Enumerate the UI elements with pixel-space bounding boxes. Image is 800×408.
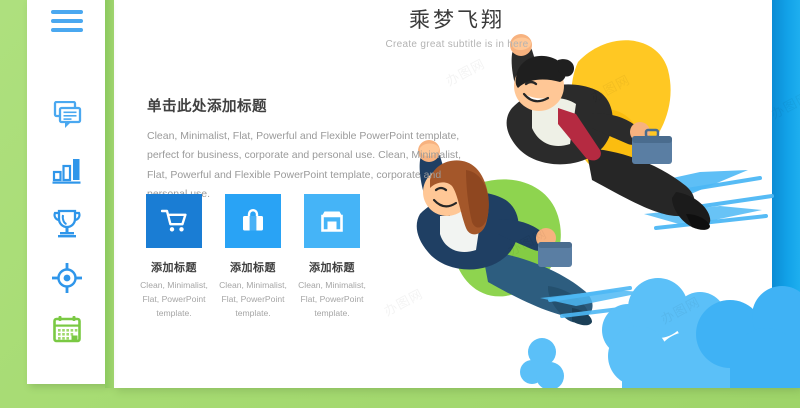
feature-card-title: 添加标题	[225, 259, 281, 275]
green-divider-strip	[105, 0, 114, 388]
watermark: 办图网	[504, 223, 550, 260]
target-icon	[49, 260, 85, 296]
sidebar-item-awards[interactable]	[49, 206, 85, 242]
sidebar-item-messages[interactable]	[49, 98, 85, 134]
watermark: 办图网	[587, 69, 633, 106]
feature-card-list: 添加标题 Clean, Minimalist, Flat, PowerPoint…	[146, 194, 486, 321]
feature-card-title: 添加标题	[146, 259, 202, 275]
feature-card[interactable]: 添加标题 Clean, Minimalist, Flat, PowerPoint…	[304, 194, 360, 321]
slide-canvas: 乘梦飞翔 Create great subtitle is in here 单击…	[0, 0, 800, 408]
feature-card[interactable]: 添加标题 Clean, Minimalist, Flat, PowerPoint…	[225, 194, 281, 321]
content-block: 单击此处添加标题 Clean, Minimalist, Flat, Powerf…	[147, 95, 477, 205]
watermark: 办图网	[657, 291, 703, 328]
storefront-icon	[319, 209, 345, 233]
page-title: 乘梦飞翔	[114, 4, 800, 34]
sidebar-item-calendar[interactable]	[49, 311, 85, 347]
page-subtitle: Create great subtitle is in here	[114, 39, 800, 50]
sidebar-icon-list	[27, 0, 107, 384]
feature-card-desc: Clean, Minimalist, Flat, PowerPoint temp…	[289, 279, 375, 321]
sidebar-panel	[27, 0, 107, 384]
slide-header: 乘梦飞翔 Create great subtitle is in here	[114, 4, 800, 50]
hamburger-menu-icon[interactable]	[51, 8, 83, 34]
chat-bubbles-icon	[49, 98, 85, 134]
calendar-icon	[49, 311, 85, 347]
feature-card-title: 添加标题	[304, 259, 360, 275]
briefcase-icon	[240, 209, 266, 233]
main-content-panel: 乘梦飞翔 Create great subtitle is in here 单击…	[114, 0, 800, 388]
content-heading: 单击此处添加标题	[147, 95, 477, 116]
sidebar-item-goals[interactable]	[49, 260, 85, 296]
feature-card-tile[interactable]	[304, 194, 360, 248]
feature-card-tile[interactable]	[225, 194, 281, 248]
right-blue-accent-bar	[772, 0, 800, 388]
feature-card[interactable]: 添加标题 Clean, Minimalist, Flat, PowerPoint…	[146, 194, 202, 321]
feature-card-desc: Clean, Minimalist, Flat, PowerPoint temp…	[210, 279, 296, 321]
watermark: 办图网	[442, 53, 488, 90]
feature-card-tile[interactable]	[146, 194, 202, 248]
trophy-icon	[49, 206, 85, 242]
feature-card-desc: Clean, Minimalist, Flat, PowerPoint temp…	[131, 279, 217, 321]
shopping-cart-icon	[161, 209, 187, 233]
sidebar-item-analytics[interactable]	[49, 152, 85, 188]
bar-chart-icon	[49, 152, 85, 188]
